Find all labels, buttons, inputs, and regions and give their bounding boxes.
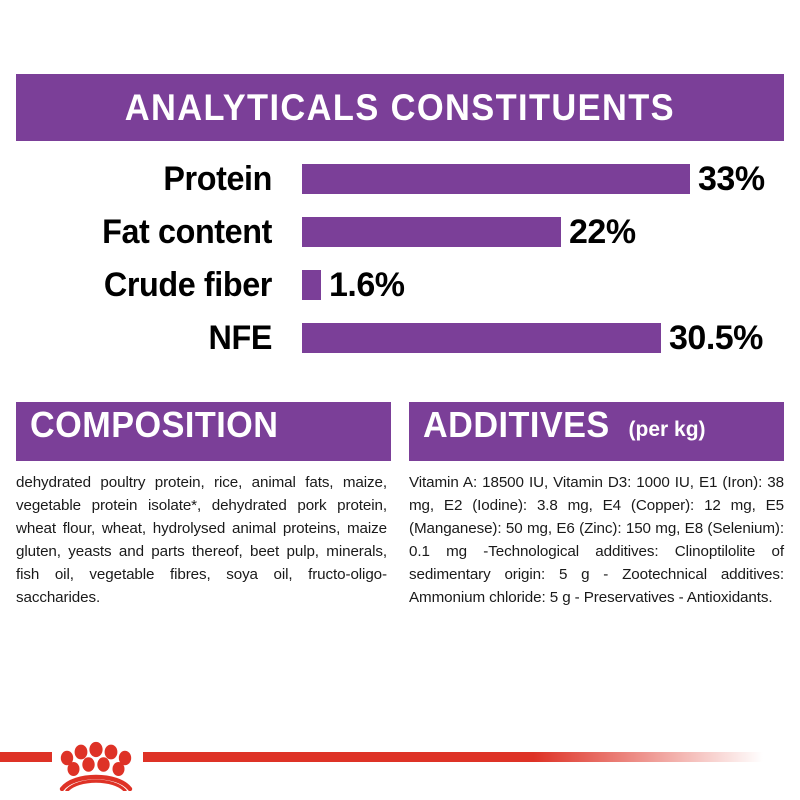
bar-label: Crude fiber	[14, 266, 272, 305]
bar-value: 33%	[698, 160, 765, 199]
footer-rule-left	[0, 752, 52, 762]
additives-unit-label: (per kg)	[629, 418, 706, 442]
analytical-constituents-banner: ANALYTICALS CONSTITUENTS	[16, 74, 784, 141]
footer-rule-right	[143, 752, 763, 762]
bar-label: Protein	[14, 160, 272, 199]
additives-banner: ADDITIVES (per kg)	[409, 402, 784, 461]
composition-text: dehydrated poultry protein, rice, animal…	[16, 461, 391, 610]
bar-value: 22%	[569, 213, 636, 252]
bar-label: NFE	[14, 319, 272, 358]
bar-label: Fat content	[14, 213, 272, 252]
brand-footer	[0, 735, 800, 800]
additives-panel: ADDITIVES (per kg) Vitamin A: 18500 IU, …	[409, 402, 784, 610]
bar-fill	[302, 217, 561, 247]
bar-fill	[302, 323, 661, 353]
analytical-constituents-chart: Protein 33% Fat content 22% Crude fiber …	[0, 155, 800, 367]
bar-fill	[302, 270, 321, 300]
page-title: ANALYTICALS CONSTITUENTS	[125, 87, 675, 129]
chart-row: Crude fiber 1.6%	[0, 261, 800, 309]
composition-banner: COMPOSITION	[16, 402, 391, 461]
bar-value: 30.5%	[669, 319, 763, 358]
detail-panels: COMPOSITION dehydrated poultry protein, …	[16, 402, 784, 610]
composition-panel: COMPOSITION dehydrated poultry protein, …	[16, 402, 391, 610]
composition-title: COMPOSITION	[30, 404, 278, 446]
bar-track: 30.5%	[272, 319, 800, 358]
additives-title: ADDITIVES	[423, 404, 610, 446]
bar-track: 1.6%	[272, 266, 800, 305]
additives-text: Vitamin A: 18500 IU, Vitamin D3: 1000 IU…	[409, 461, 784, 610]
chart-row: Protein 33%	[0, 155, 800, 203]
bar-value: 1.6%	[329, 266, 405, 305]
product-info-panel: ANALYTICALS CONSTITUENTS Protein 33% Fat…	[0, 0, 800, 800]
bar-fill	[302, 164, 690, 194]
bar-track: 22%	[272, 213, 800, 252]
bar-track: 33%	[272, 160, 800, 199]
chart-row: NFE 30.5%	[0, 314, 800, 362]
crown-icon	[56, 733, 136, 791]
chart-row: Fat content 22%	[0, 208, 800, 256]
